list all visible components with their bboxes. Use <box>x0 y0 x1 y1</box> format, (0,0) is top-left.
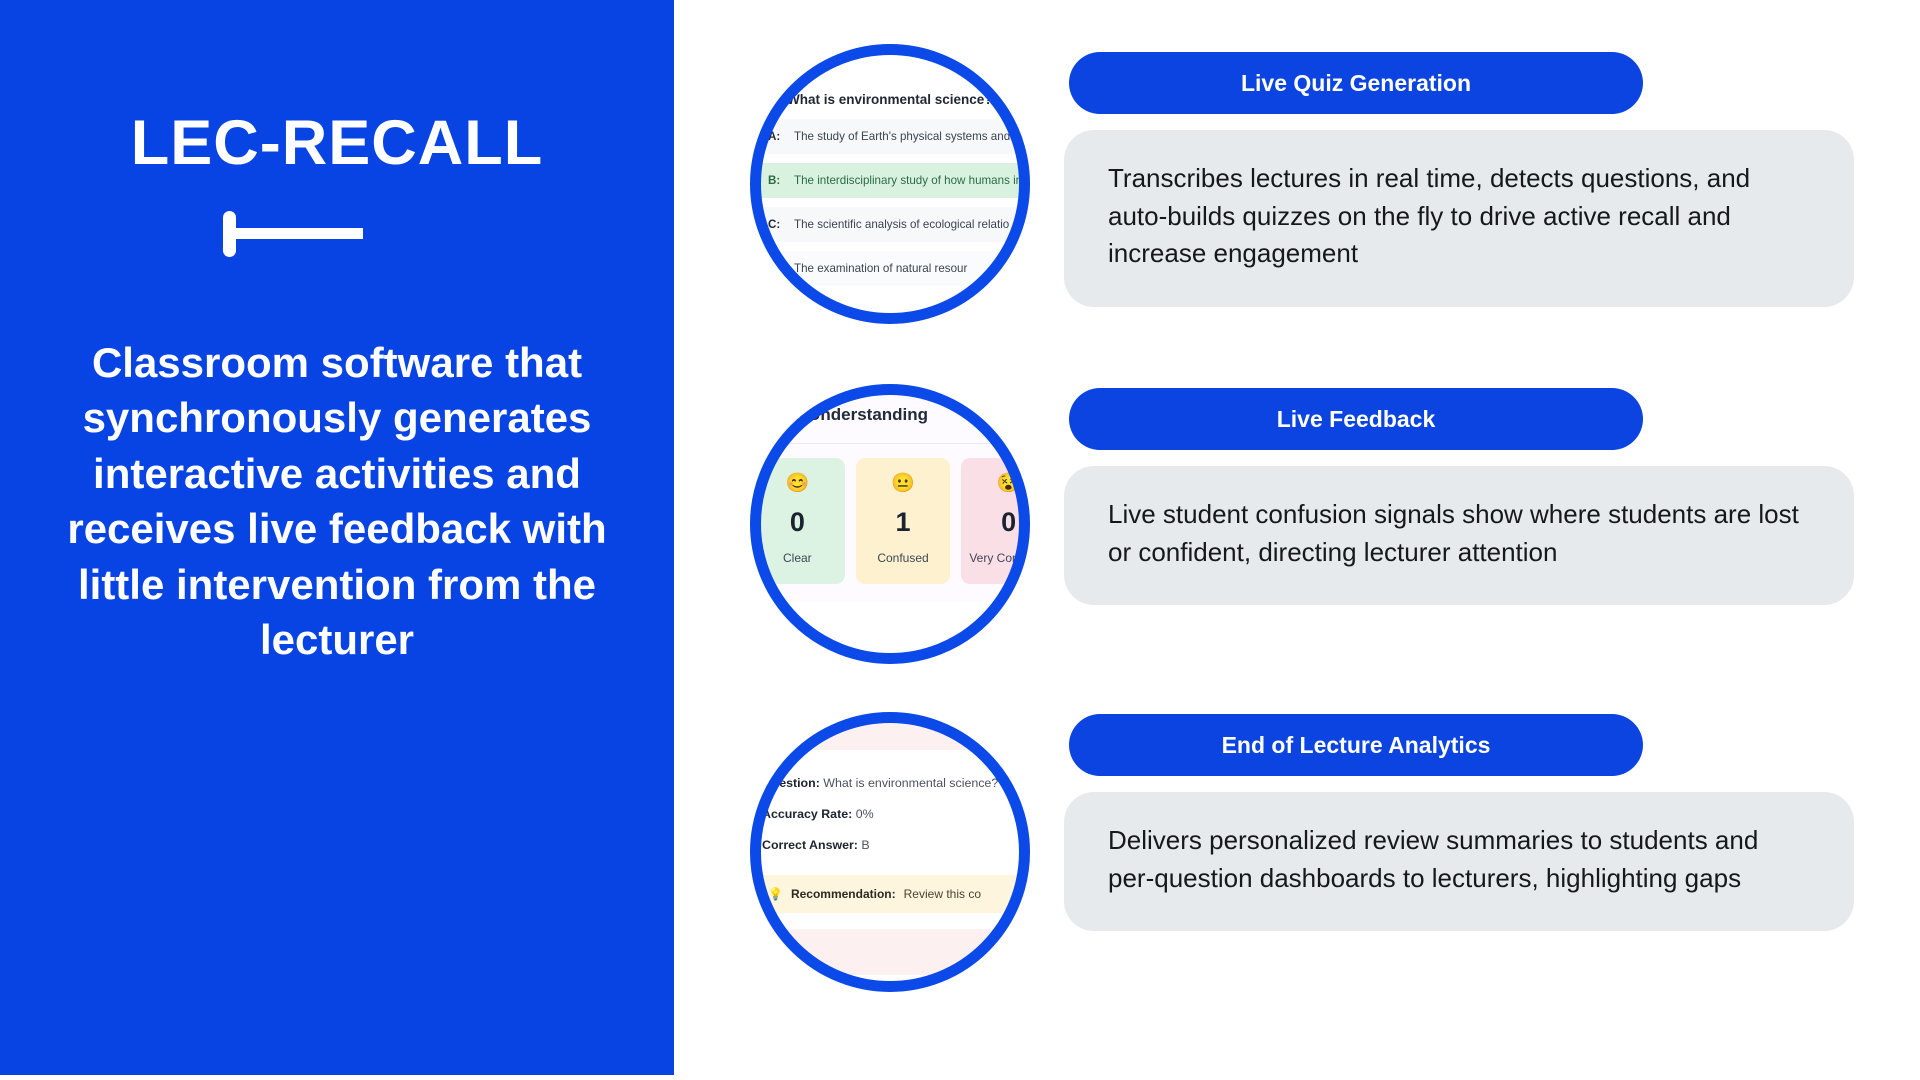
feature-pill-live-quiz-generation[interactable]: Live Quiz Generation <box>1069 52 1643 114</box>
feature-row: Class Understanding 😊 0 Clear 😐 1 <box>674 370 1920 670</box>
quiz-option-text: The examination of natural resour <box>794 262 967 275</box>
quiz-question-row: 📝 What is environmental science? <box>750 86 1030 119</box>
class-understanding-title: Class Understanding <box>750 384 1030 443</box>
quiz-option-label: C: <box>768 218 782 231</box>
analytics-recommendation: 💡 Recommendation: Review this co <box>750 875 1030 913</box>
analytics-row-key: Accuracy Rate: <box>762 807 852 821</box>
quiz-option-text: The study of Earth's physical systems an… <box>794 130 1023 143</box>
feature-description: Delivers personalized review summaries t… <box>1064 792 1854 931</box>
analytics-row-value: B <box>861 838 869 852</box>
quiz-option[interactable]: C: The scientific analysis of ecological… <box>756 207 1030 242</box>
analytics-row-accuracy: Accuracy Rate: 0% <box>750 807 1030 838</box>
quiz-option-correct[interactable]: B: The interdisciplinary study of how hu… <box>756 163 1030 198</box>
quiz-option-label: A: <box>768 130 782 143</box>
analytics-row-correct-answer: Correct Answer: B <box>750 838 1030 869</box>
lightbulb-icon: 💡 <box>768 887 783 901</box>
quiz-question-text: What is environmental science? <box>787 92 993 107</box>
feature-pill-end-of-lecture-analytics[interactable]: End of Lecture Analytics <box>1069 714 1643 776</box>
thumbnail-mask: Class Understanding 😊 0 Clear 😐 1 <box>750 384 1030 664</box>
analytics-row-value: What is environmental science? <box>823 776 998 790</box>
feature-pill-live-feedback[interactable]: Live Feedback <box>1069 388 1643 450</box>
left-brand-panel: LEC-RECALL Classroom software that synch… <box>0 0 674 1075</box>
understanding-column-confused[interactable]: 😐 1 Confused <box>856 458 951 584</box>
thumbnail-mask: 📝 What is environmental science? A: The … <box>750 44 1030 324</box>
page-title: LEC-RECALL <box>0 112 674 175</box>
recommendation-key: Recommendation: <box>791 887 896 901</box>
feature-row: Question: What is environmental science?… <box>674 698 1920 998</box>
brand-tagline: Classroom software that synchronously ge… <box>27 335 647 668</box>
understanding-caption: Confused <box>862 550 945 566</box>
smiling-face-icon: 😊 <box>756 474 839 493</box>
understanding-caption: Clear <box>756 550 839 566</box>
slide-canvas: LEC-RECALL Classroom software that synch… <box>0 0 1920 1080</box>
dizzy-face-icon: 😵 <box>967 474 1030 493</box>
feature-thumbnail-analytics[interactable]: Question: What is environmental science?… <box>750 712 1030 992</box>
logo-underline-mark <box>207 211 467 273</box>
neutral-face-icon: 😐 <box>862 474 945 493</box>
thumbnail-mask: Question: What is environmental science?… <box>750 712 1030 992</box>
quiz-screenshot: 📝 What is environmental science? A: The … <box>750 78 1030 295</box>
recommendation-value: Review this co <box>904 887 981 901</box>
understanding-columns: 😊 0 Clear 😐 1 Confused 😵 <box>750 444 1030 602</box>
class-understanding-screenshot: Class Understanding 😊 0 Clear 😐 1 <box>750 384 1030 602</box>
understanding-count: 0 <box>967 507 1030 538</box>
understanding-column-very-confused[interactable]: 😵 0 Very Confused <box>961 458 1030 584</box>
understanding-column-clear[interactable]: 😊 0 Clear <box>750 458 845 584</box>
analytics-row-key: Question: <box>762 776 820 790</box>
analytics-row-question: Question: What is environmental science? <box>750 776 1030 807</box>
analytics-row-value: 0% <box>856 807 874 821</box>
pencil-icon: 📝 <box>766 93 781 107</box>
quiz-option-text: The interdisciplinary study of how human… <box>794 174 1025 187</box>
feature-thumbnail-quiz[interactable]: 📝 What is environmental science? A: The … <box>750 44 1030 324</box>
feature-description: Live student confusion signals show wher… <box>1064 466 1854 605</box>
quiz-option[interactable]: The examination of natural resour <box>756 251 1030 286</box>
features-panel: 📝 What is environmental science? A: The … <box>674 0 1920 1080</box>
understanding-count: 1 <box>862 507 945 538</box>
logo-horizontal-bar <box>223 228 363 239</box>
understanding-count: 0 <box>756 507 839 538</box>
analytics-card: Question: What is environmental science?… <box>750 750 1030 929</box>
quiz-option-text: The scientific analysis of ecological re… <box>794 218 1009 231</box>
feature-thumbnail-feedback[interactable]: Class Understanding 😊 0 Clear 😐 1 <box>750 384 1030 664</box>
analytics-screenshot: Question: What is environmental science?… <box>750 712 1030 975</box>
understanding-caption: Very Confused <box>967 550 1030 566</box>
quiz-option-label: B: <box>768 174 782 187</box>
feature-description: Transcribes lectures in real time, detec… <box>1064 130 1854 307</box>
analytics-row-key: Correct Answer: <box>762 838 858 852</box>
quiz-option[interactable]: A: The study of Earth's physical systems… <box>756 119 1030 154</box>
feature-row: 📝 What is environmental science? A: The … <box>674 30 1920 330</box>
